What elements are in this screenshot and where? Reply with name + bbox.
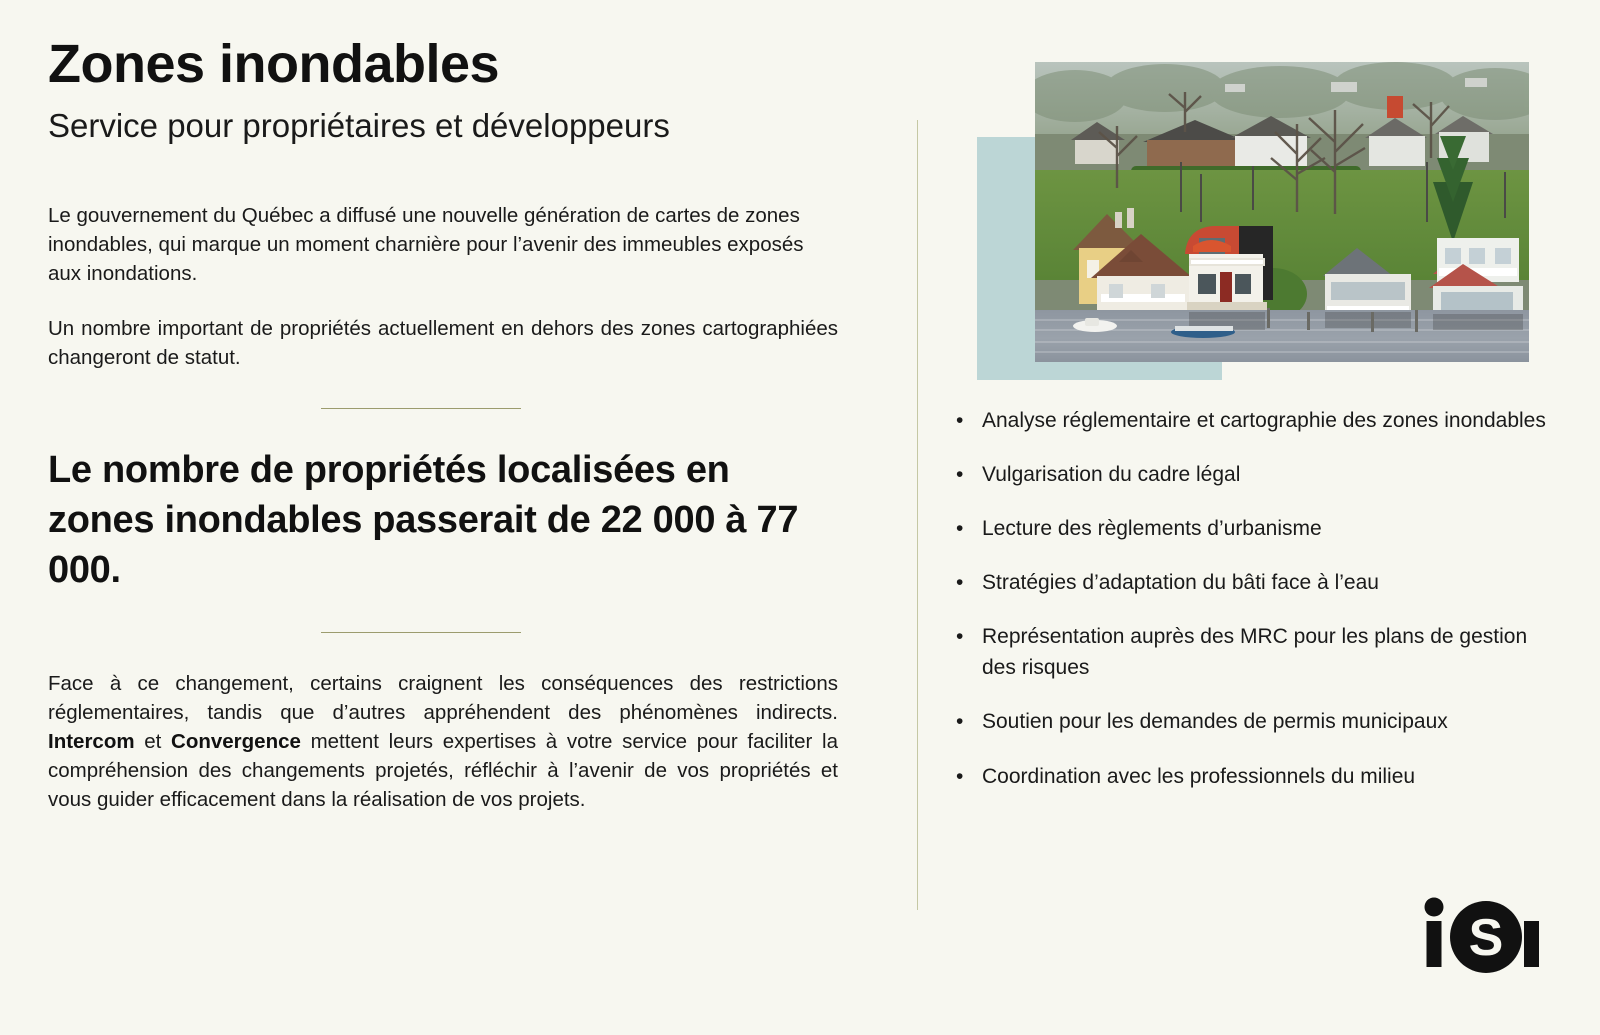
list-item: Lecture des règlements d’urbanisme bbox=[948, 513, 1548, 544]
list-item: Stratégies d’adaptation du bâti face à l… bbox=[948, 567, 1548, 598]
photo-block bbox=[977, 62, 1529, 382]
column-divider bbox=[917, 120, 918, 910]
services-bullet-list: Analyse réglementaire et cartographie de… bbox=[948, 405, 1548, 815]
left-content-column: Zones inondables Service pour propriétai… bbox=[48, 36, 838, 814]
isi-logo: S bbox=[1420, 893, 1550, 973]
intro-paragraph-1: Le gouvernement du Québec a diffusé une … bbox=[48, 201, 838, 288]
closing-text-part-1: Face à ce changement, certains craignent… bbox=[48, 672, 838, 724]
list-item: Vulgarisation du cadre légal bbox=[948, 459, 1548, 490]
brand-intercom: Intercom bbox=[48, 730, 135, 753]
list-item: Représentation auprès des MRC pour les p… bbox=[948, 621, 1548, 683]
flood-photo bbox=[1035, 62, 1529, 362]
slide-root: Zones inondables Service pour propriétai… bbox=[0, 0, 1600, 1035]
page-title: Zones inondables bbox=[48, 36, 838, 93]
brand-convergence: Convergence bbox=[171, 730, 301, 753]
page-subtitle: Service pour propriétaires et développeu… bbox=[48, 107, 838, 145]
closing-paragraph: Face à ce changement, certains craignent… bbox=[48, 669, 838, 815]
closing-text-part-2: et bbox=[135, 730, 171, 753]
divider-top bbox=[321, 408, 521, 409]
list-item: Coordination avec les professionnels du … bbox=[948, 761, 1548, 792]
list-item: Analyse réglementaire et cartographie de… bbox=[948, 405, 1548, 436]
intro-paragraph-2: Un nombre important de propriétés actuel… bbox=[48, 314, 838, 372]
divider-bottom bbox=[321, 632, 521, 633]
list-item: Soutien pour les demandes de permis muni… bbox=[948, 706, 1548, 737]
right-content-column: Analyse réglementaire et cartographie de… bbox=[948, 0, 1568, 1035]
key-statement: Le nombre de propriétés localisées en zo… bbox=[48, 445, 838, 595]
svg-text:S: S bbox=[1469, 909, 1504, 967]
